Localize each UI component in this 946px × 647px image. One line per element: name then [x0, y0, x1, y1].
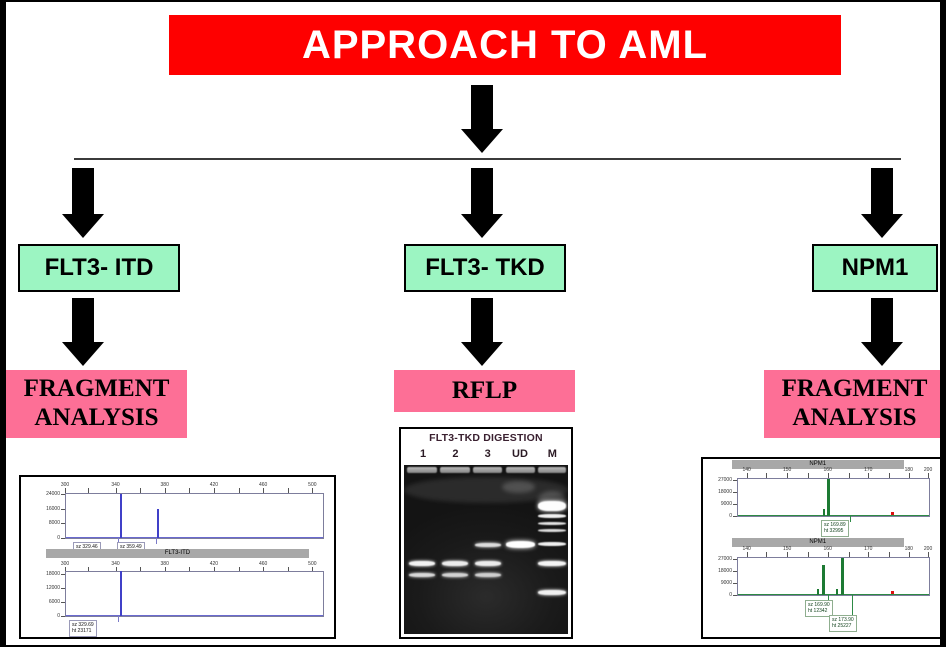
- gel-lane-label: M: [548, 448, 557, 460]
- gene-box-label: NPM1: [842, 254, 909, 282]
- epg-peak: [120, 571, 122, 616]
- epg-baseline: [66, 615, 323, 616]
- gel-ladder-band: [538, 542, 566, 546]
- y-tick-label: 27000: [718, 477, 732, 483]
- x-tick-label: 160: [824, 467, 832, 473]
- arrow-down-icon-method-3: [861, 298, 903, 368]
- y-tick-label: 18000: [46, 571, 60, 577]
- y-tick-label: 0: [57, 613, 60, 619]
- gene-box-flt3-itd[interactable]: FLT3- ITD: [18, 244, 180, 292]
- x-tick-label: 420: [210, 561, 218, 567]
- method-box-label-line-1: FRAGMENT: [782, 375, 928, 404]
- gel-well: [440, 467, 470, 473]
- peak-height-label: ht 23171: [72, 628, 94, 634]
- epg-plot-area-npm1-1: [737, 478, 930, 517]
- x-tick-label: 340: [111, 561, 119, 567]
- x-tick-label: 140: [742, 467, 750, 473]
- y-tick-label: 0: [729, 592, 732, 598]
- epg-npm1-trace-1: NPM1 140 150 160 170 180 200 27000 18000…: [703, 459, 942, 537]
- epg-plot-area-npm1-2: [737, 557, 930, 596]
- gel-title: FLT3-TKD DIGESTION: [401, 432, 571, 444]
- x-tick-label: 170: [864, 546, 872, 552]
- gel-band: [475, 561, 501, 566]
- method-box-label-line-1: FRAGMENT: [24, 375, 170, 404]
- epg-x-axis-npm1-2: 140 150 160 170 180 200: [737, 547, 930, 557]
- x-tick-label: 140: [742, 546, 750, 552]
- gel-image: [404, 465, 568, 634]
- epg-peak: [157, 509, 159, 538]
- epg-baseline: [738, 515, 929, 516]
- gel-well: [506, 467, 536, 473]
- peak-height-label: ht 25227: [832, 623, 854, 629]
- gel-lane-labels: 1 2 3 UD M: [401, 448, 571, 462]
- x-tick-label: 420: [210, 482, 218, 488]
- method-box-label-line-2: ANALYSIS: [34, 404, 158, 433]
- y-tick-label: 8000: [49, 520, 60, 526]
- epg-npm1-trace-2: NPM1 140 150 160 170 180 200 27000 18000…: [703, 537, 942, 637]
- arrow-down-icon-main: [461, 85, 503, 153]
- arrow-down-icon-method-1: [62, 298, 104, 368]
- x-tick-label: 200: [924, 467, 932, 473]
- epg-plot-area-1: [65, 493, 324, 539]
- x-tick-label: 160: [824, 546, 832, 552]
- gel-lane-label: 3: [485, 448, 491, 460]
- gel-lane-label: 2: [452, 448, 458, 460]
- method-box-rflp[interactable]: RFLP: [394, 370, 575, 412]
- page-title: APPROACH TO AML: [302, 23, 708, 68]
- gel-ladder-band: [538, 590, 566, 595]
- epg-peak-leader: [118, 616, 119, 622]
- x-tick-label: 460: [259, 561, 267, 567]
- arrow-down-icon-method-2: [461, 298, 503, 368]
- branch-connector-line: [74, 158, 901, 160]
- y-tick-label: 18000: [718, 568, 732, 574]
- y-tick-label: 16000: [46, 506, 60, 512]
- x-tick-label: 150: [783, 546, 791, 552]
- y-tick-label: 12000: [46, 585, 60, 591]
- epg-plot-area-2: [65, 571, 324, 617]
- gel-well: [538, 467, 566, 473]
- npm1-electropherogram-figure[interactable]: NPM1 140 150 160 170 180 200 27000 18000…: [701, 457, 944, 639]
- x-tick-label: 460: [259, 482, 267, 488]
- method-box-label-line-2: ANALYSIS: [792, 404, 916, 433]
- x-tick-label: 170: [864, 467, 872, 473]
- gel-band: [506, 541, 536, 548]
- epg-baseline: [738, 594, 929, 595]
- y-tick-label: 9000: [721, 580, 732, 586]
- x-tick-label: 150: [783, 467, 791, 473]
- gel-band: [409, 573, 435, 577]
- epg-peak: [823, 509, 825, 516]
- epg-peak: [822, 565, 825, 595]
- slide-canvas: APPROACH TO AML FLT3- ITD FLT3- TKD NPM1: [0, 0, 946, 647]
- epg-peak: [827, 479, 830, 516]
- slide-title-banner: APPROACH TO AML: [169, 15, 841, 75]
- x-tick-label: 300: [61, 482, 69, 488]
- gel-band: [442, 573, 468, 577]
- peak-height-label: ht 32995: [824, 528, 846, 534]
- epg-baseline: [66, 537, 323, 538]
- epg-peak: [120, 494, 122, 538]
- y-tick-label: 27000: [718, 556, 732, 562]
- arrow-down-icon-branch-2: [461, 168, 503, 240]
- epg-y-axis-1: 24000 16000 8000 0: [21, 494, 65, 538]
- method-box-label-line-1: RFLP: [452, 377, 517, 406]
- peak-height-label: ht 12342: [808, 608, 830, 614]
- gel-well: [407, 467, 437, 473]
- gel-ladder-band: [538, 522, 566, 525]
- epg-y-axis-npm1-2: 27000 18000 9000 0: [703, 559, 737, 595]
- x-tick-label: 180: [905, 546, 913, 552]
- x-tick-label: 340: [111, 482, 119, 488]
- epg-peak: [817, 589, 819, 595]
- y-tick-label: 24000: [46, 491, 60, 497]
- epg-x-axis-1: 300 340 380 420 460 500: [65, 483, 324, 493]
- epg-x-axis-npm1-1: 140 150 160 170 180 200: [737, 468, 930, 478]
- arrow-down-icon-branch-3: [861, 168, 903, 240]
- epg-panel-title: FLT3-ITD: [46, 549, 309, 558]
- gel-band: [442, 561, 468, 566]
- epg-panel-title: NPM1: [732, 538, 904, 547]
- x-tick-label: 200: [924, 546, 932, 552]
- epg-trace-1: 300 340 380 420 460 500 24000 16000 8000: [21, 477, 334, 549]
- epg-peak-callout-1: sz 329.69 ht 23171: [69, 620, 97, 637]
- gene-box-flt3-tkd[interactable]: FLT3- TKD: [404, 244, 566, 292]
- epg-y-axis-2: 18000 12000 6000 0: [21, 574, 65, 616]
- x-tick-label: 300: [61, 561, 69, 567]
- y-tick-label: 0: [57, 535, 60, 541]
- flt3-tkd-gel-figure[interactable]: FLT3-TKD DIGESTION 1 2 3 UD M: [399, 427, 573, 639]
- y-tick-label: 6000: [49, 599, 60, 605]
- gel-ladder-band: [538, 529, 566, 532]
- epg-peak-leader: [852, 595, 853, 617]
- y-tick-label: 18000: [718, 489, 732, 495]
- flt3-itd-electropherogram-figure[interactable]: 300 340 380 420 460 500 24000 16000 8000: [19, 475, 336, 639]
- epg-trace-2: FLT3-ITD 300 340 380 420 460 500 18000 1…: [21, 549, 334, 637]
- y-tick-label: 0: [729, 513, 732, 519]
- gel-band: [475, 543, 501, 547]
- gene-box-npm1[interactable]: NPM1: [812, 244, 938, 292]
- method-box-fragment-analysis-left[interactable]: FRAGMENT ANALYSIS: [6, 370, 187, 438]
- gel-lane-label: UD: [512, 448, 528, 460]
- x-tick-label: 500: [308, 482, 316, 488]
- arrow-down-icon-branch-1: [62, 168, 104, 240]
- gel-well: [473, 467, 503, 473]
- epg-size-marker: [891, 512, 894, 515]
- epg-peak: [841, 558, 844, 595]
- gene-box-label: FLT3- TKD: [425, 254, 545, 282]
- epg-size-marker: [891, 591, 894, 594]
- gel-band: [409, 561, 435, 566]
- epg-peak: [836, 589, 838, 595]
- epg-peak-callout-npm1-2b: sz 173.90 ht 25227: [829, 615, 857, 632]
- x-tick-label: 380: [161, 482, 169, 488]
- x-tick-label: 500: [308, 561, 316, 567]
- x-tick-label: 380: [161, 561, 169, 567]
- gene-box-label: FLT3- ITD: [45, 254, 154, 282]
- y-tick-label: 9000: [721, 501, 732, 507]
- epg-peak-leader: [850, 516, 851, 522]
- gel-ladder-band: [538, 561, 566, 566]
- gel-ladder-band: [538, 514, 566, 518]
- x-tick-label: 180: [905, 467, 913, 473]
- gel-band: [475, 573, 501, 577]
- epg-peak-callout-npm1-1: sz 169.89 ht 32995: [821, 520, 849, 537]
- epg-peak-leader: [156, 538, 157, 544]
- method-box-fragment-analysis-right[interactable]: FRAGMENT ANALYSIS: [764, 370, 945, 438]
- gel-lane-label: 1: [420, 448, 426, 460]
- epg-y-axis-npm1-1: 27000 18000 9000 0: [703, 480, 737, 516]
